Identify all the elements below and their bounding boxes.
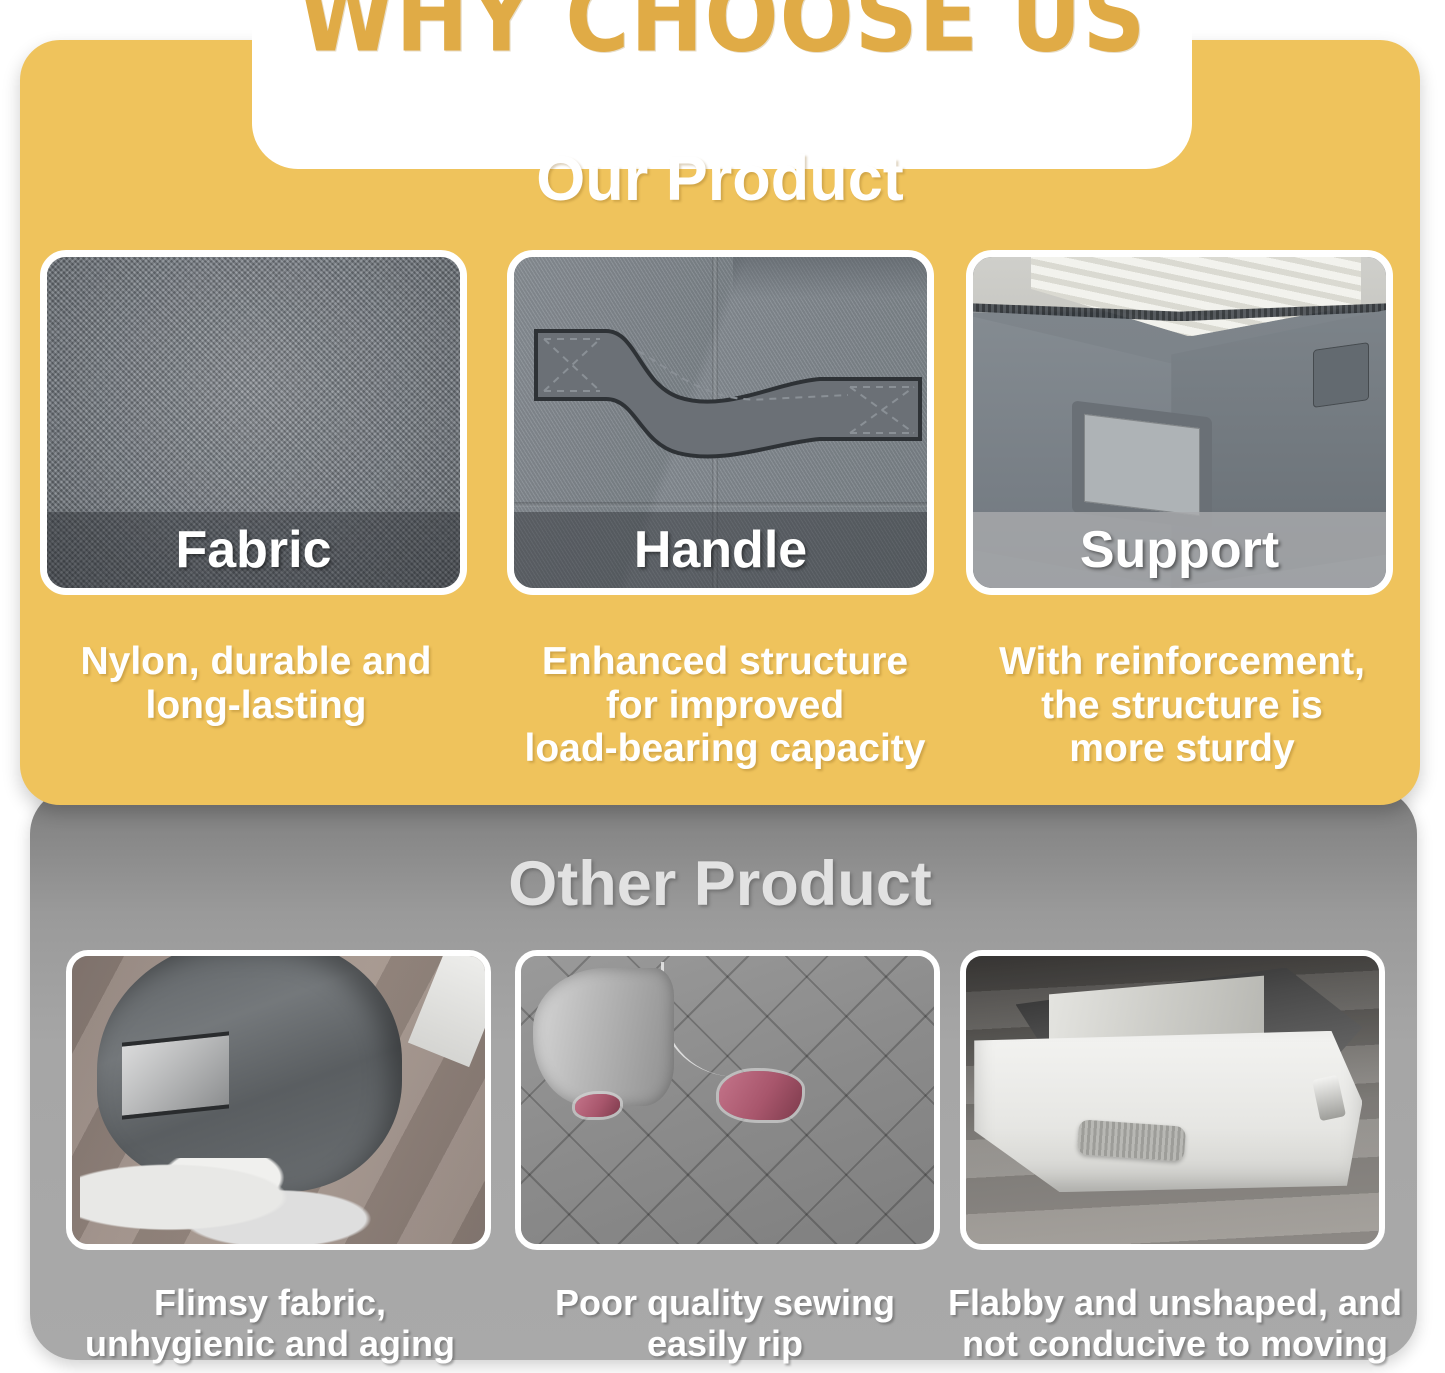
page-title: WHY CHOOSE US bbox=[0, 0, 1445, 74]
box-top-band bbox=[733, 257, 927, 299]
caption-flabby-unshaped: Flabby and unshaped, and not conducive t… bbox=[940, 1282, 1410, 1364]
fabric-rip-small bbox=[575, 1094, 620, 1117]
our-product-tile-fabric: Fabric bbox=[40, 250, 467, 595]
infographic-canvas: WHY CHOOSE US Our Product Fabric bbox=[0, 0, 1445, 1373]
other-product-tile-torn-bag bbox=[66, 950, 491, 1250]
caption-poor-sewing: Poor quality sewing easily rip bbox=[505, 1282, 945, 1364]
handle-strap-shape bbox=[528, 313, 928, 473]
white-bag-body bbox=[974, 1031, 1362, 1192]
our-product-heading: Our Product bbox=[20, 143, 1420, 215]
tile-label-handle: Handle bbox=[514, 512, 927, 588]
caption-handle: Enhanced structure for improved load-bea… bbox=[500, 640, 950, 771]
our-product-tile-support: Support bbox=[966, 250, 1393, 595]
label-window-holder bbox=[1072, 401, 1212, 530]
caption-support: With reinforcement, the structure is mor… bbox=[962, 640, 1402, 771]
leather-handle-strap bbox=[528, 313, 928, 473]
collapsed-white-bag-photo bbox=[966, 956, 1379, 1244]
quilted-gray-fabric-photo bbox=[521, 956, 934, 1244]
box-horizontal-seam bbox=[514, 502, 927, 507]
caption-flimsy-fabric: Flimsy fabric, unhygienic and aging bbox=[40, 1282, 500, 1364]
tile-label-fabric: Fabric bbox=[47, 512, 460, 588]
fabric-rip-large bbox=[719, 1071, 802, 1120]
other-product-heading: Other Product bbox=[20, 848, 1420, 920]
caption-fabric: Nylon, durable and long-lasting bbox=[36, 640, 476, 727]
other-product-tile-ripped-seam bbox=[515, 950, 940, 1250]
box-contents-white-linens bbox=[1031, 257, 1361, 336]
bag-clear-window bbox=[122, 1031, 229, 1119]
other-product-tile-collapsed-bag bbox=[960, 950, 1385, 1250]
white-debris-flakes bbox=[80, 1158, 377, 1250]
our-product-tile-handle: Handle bbox=[507, 250, 934, 595]
torn-gray-bag-photo bbox=[72, 956, 485, 1244]
side-handle-tab bbox=[1313, 342, 1369, 408]
tile-label-support: Support bbox=[973, 512, 1386, 588]
detached-handle-strap bbox=[533, 968, 673, 1106]
